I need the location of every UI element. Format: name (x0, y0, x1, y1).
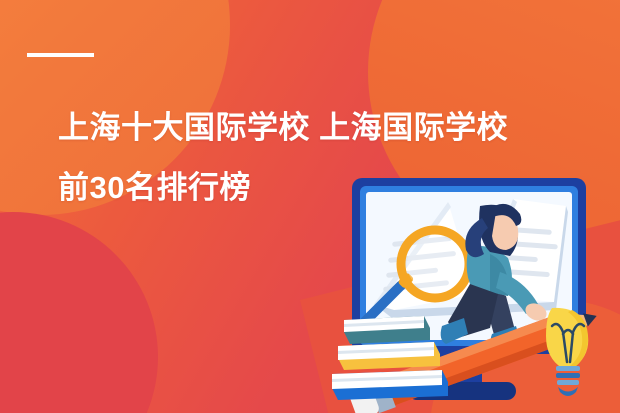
banner-card: 上海十大国际学校 上海国际学校前30名排行榜 (0, 0, 620, 413)
lightbulb-icon (546, 308, 588, 396)
accent-rule-divider (27, 53, 94, 57)
background-circle-bottom-left (0, 212, 158, 413)
study-search-illustration (330, 176, 620, 413)
